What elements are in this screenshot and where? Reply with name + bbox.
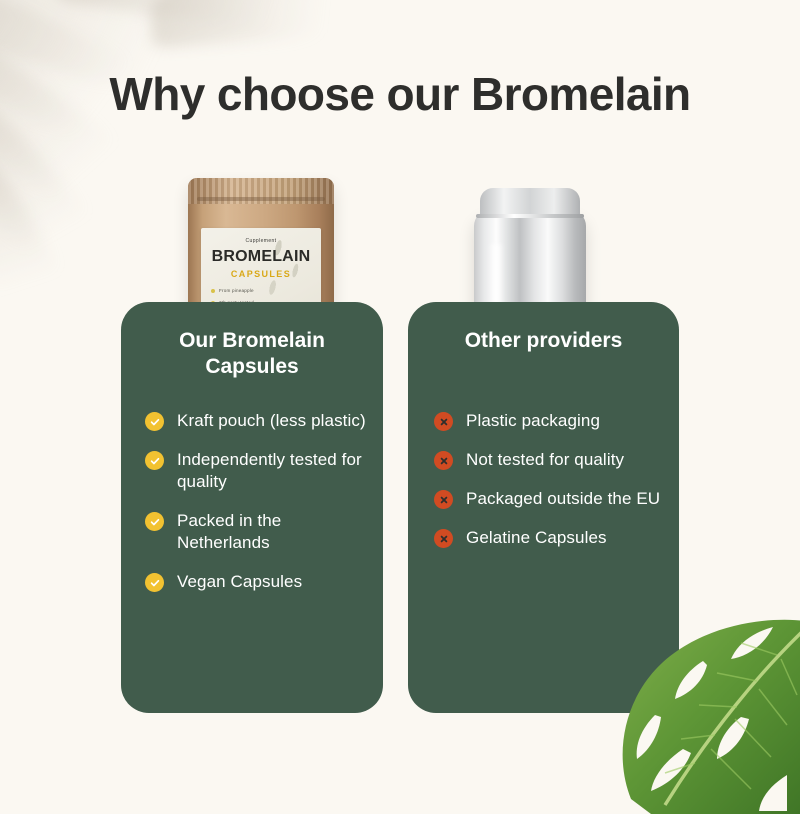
cross-icon: [434, 490, 453, 509]
card-title-ours: Our Bromelain Capsules: [135, 328, 369, 379]
list-item: Packaged outside the EU: [434, 488, 665, 510]
label-product-name: BROMELAIN: [201, 248, 321, 266]
list-item: Kraft pouch (less plastic): [145, 410, 367, 432]
feature-list-others: Plastic packaging Not tested for quality…: [434, 410, 665, 566]
foil-pouch-top: [480, 188, 580, 216]
cross-icon: [434, 451, 453, 470]
list-item: Independently tested for quality: [145, 449, 367, 493]
kraft-pouch-seal: [188, 178, 334, 204]
list-item-label: Plastic packaging: [466, 410, 600, 432]
list-item-label: Packed in the Netherlands: [177, 510, 367, 554]
list-item: Plastic packaging: [434, 410, 665, 432]
cross-icon: [434, 412, 453, 431]
check-icon: [145, 412, 164, 431]
list-item-label: Kraft pouch (less plastic): [177, 410, 366, 432]
label-product-subtitle: CAPSULES: [201, 269, 321, 279]
feature-list-ours: Kraft pouch (less plastic) Independently…: [145, 410, 367, 611]
cross-icon: [434, 529, 453, 548]
foil-pouch-zipper: [476, 214, 584, 218]
list-item: Not tested for quality: [434, 449, 665, 471]
list-item-label: Not tested for quality: [466, 449, 624, 471]
label-brand: Cupplement: [201, 238, 321, 244]
list-item-label: Gelatine Capsules: [466, 527, 607, 549]
label-feature: From pineapple: [211, 288, 315, 293]
label-feature-text: From pineapple: [219, 288, 254, 293]
bullet-dot-icon: [211, 289, 215, 293]
comparison-card-ours: Our Bromelain Capsules Kraft pouch (less…: [121, 302, 383, 713]
palm-frond-shadow: [148, 0, 393, 48]
check-icon: [145, 573, 164, 592]
check-icon: [145, 512, 164, 531]
list-item-label: Vegan Capsules: [177, 571, 302, 593]
list-item: Gelatine Capsules: [434, 527, 665, 549]
card-title-others: Other providers: [422, 328, 665, 354]
page-title: Why choose our Bromelain: [0, 68, 800, 120]
list-item: Vegan Capsules: [145, 571, 367, 593]
check-icon: [145, 451, 164, 470]
list-item: Packed in the Netherlands: [145, 510, 367, 554]
list-item-label: Packaged outside the EU: [466, 488, 660, 510]
monstera-leaf: [591, 599, 800, 814]
list-item-label: Independently tested for quality: [177, 449, 367, 493]
